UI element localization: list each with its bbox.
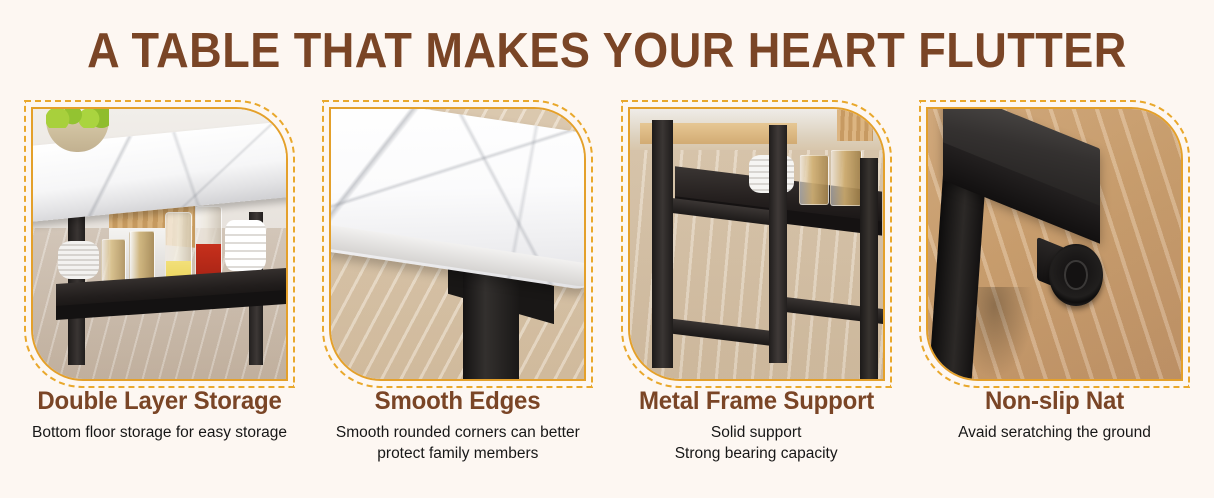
feature-description: Bottom floor storage for easy storage [24, 423, 295, 444]
feature-heading: Metal Frame Support [626, 386, 886, 416]
metal-leg-front [652, 120, 672, 368]
non-slip-foot-pad [1049, 244, 1102, 306]
feature-photo-double-layer-storage [31, 107, 288, 381]
feature-card-smooth-edges [322, 100, 593, 388]
feature-heading: Smooth Edges [328, 386, 588, 416]
caption-smooth-edges: Smooth Edges Smooth rounded corners can … [322, 386, 593, 486]
metal-leg-back [860, 158, 878, 379]
feature-description: Avaid seratching the ground [919, 423, 1190, 444]
spice-jar-1 [799, 155, 829, 206]
feature-image-row [24, 100, 1190, 388]
caption-double-layer-storage: Double Layer Storage Bottom floor storag… [24, 386, 295, 486]
leg-shadow [968, 287, 1034, 379]
feature-card-non-slip-nat [919, 100, 1190, 388]
feature-card-double-layer-storage [24, 100, 295, 388]
feature-description: Smooth rounded corners can better protec… [322, 423, 593, 464]
photo-illustration-foot-pad [928, 109, 1181, 379]
metal-leg-middle [769, 125, 787, 363]
feature-caption-row: Double Layer Storage Bottom floor storag… [24, 386, 1190, 486]
green-apples [46, 107, 109, 128]
photo-illustration-storage-shelf [33, 109, 286, 379]
photo-illustration-metal-frame [630, 109, 883, 379]
caption-non-slip-nat: Non-slip Nat Avaid seratching the ground [919, 386, 1190, 486]
feature-heading: Non-slip Nat [924, 386, 1184, 416]
feature-photo-metal-frame-support [628, 107, 885, 381]
banner-title: A TABLE THAT MAKES YOUR HEART FLUTTER [49, 26, 1166, 77]
spice-jar-2 [830, 150, 862, 206]
feature-photo-smooth-edges [329, 107, 586, 381]
stacked-bowls [225, 220, 265, 271]
feature-card-metal-frame-support [621, 100, 892, 388]
product-feature-banner: A TABLE THAT MAKES YOUR HEART FLUTTER [0, 0, 1214, 498]
feature-description-line2: Strong bearing capacity [675, 445, 838, 462]
photo-illustration-table-corner [331, 109, 584, 379]
stacked-plates [58, 241, 98, 279]
feature-description: Solid support Strong bearing capacity [621, 423, 892, 464]
feature-heading: Double Layer Storage [29, 386, 289, 416]
feature-description-line1: Solid support [711, 424, 801, 441]
feature-photo-non-slip-nat [926, 107, 1183, 381]
wooden-chair [837, 109, 872, 141]
caption-metal-frame-support: Metal Frame Support Solid support Strong… [621, 386, 892, 486]
